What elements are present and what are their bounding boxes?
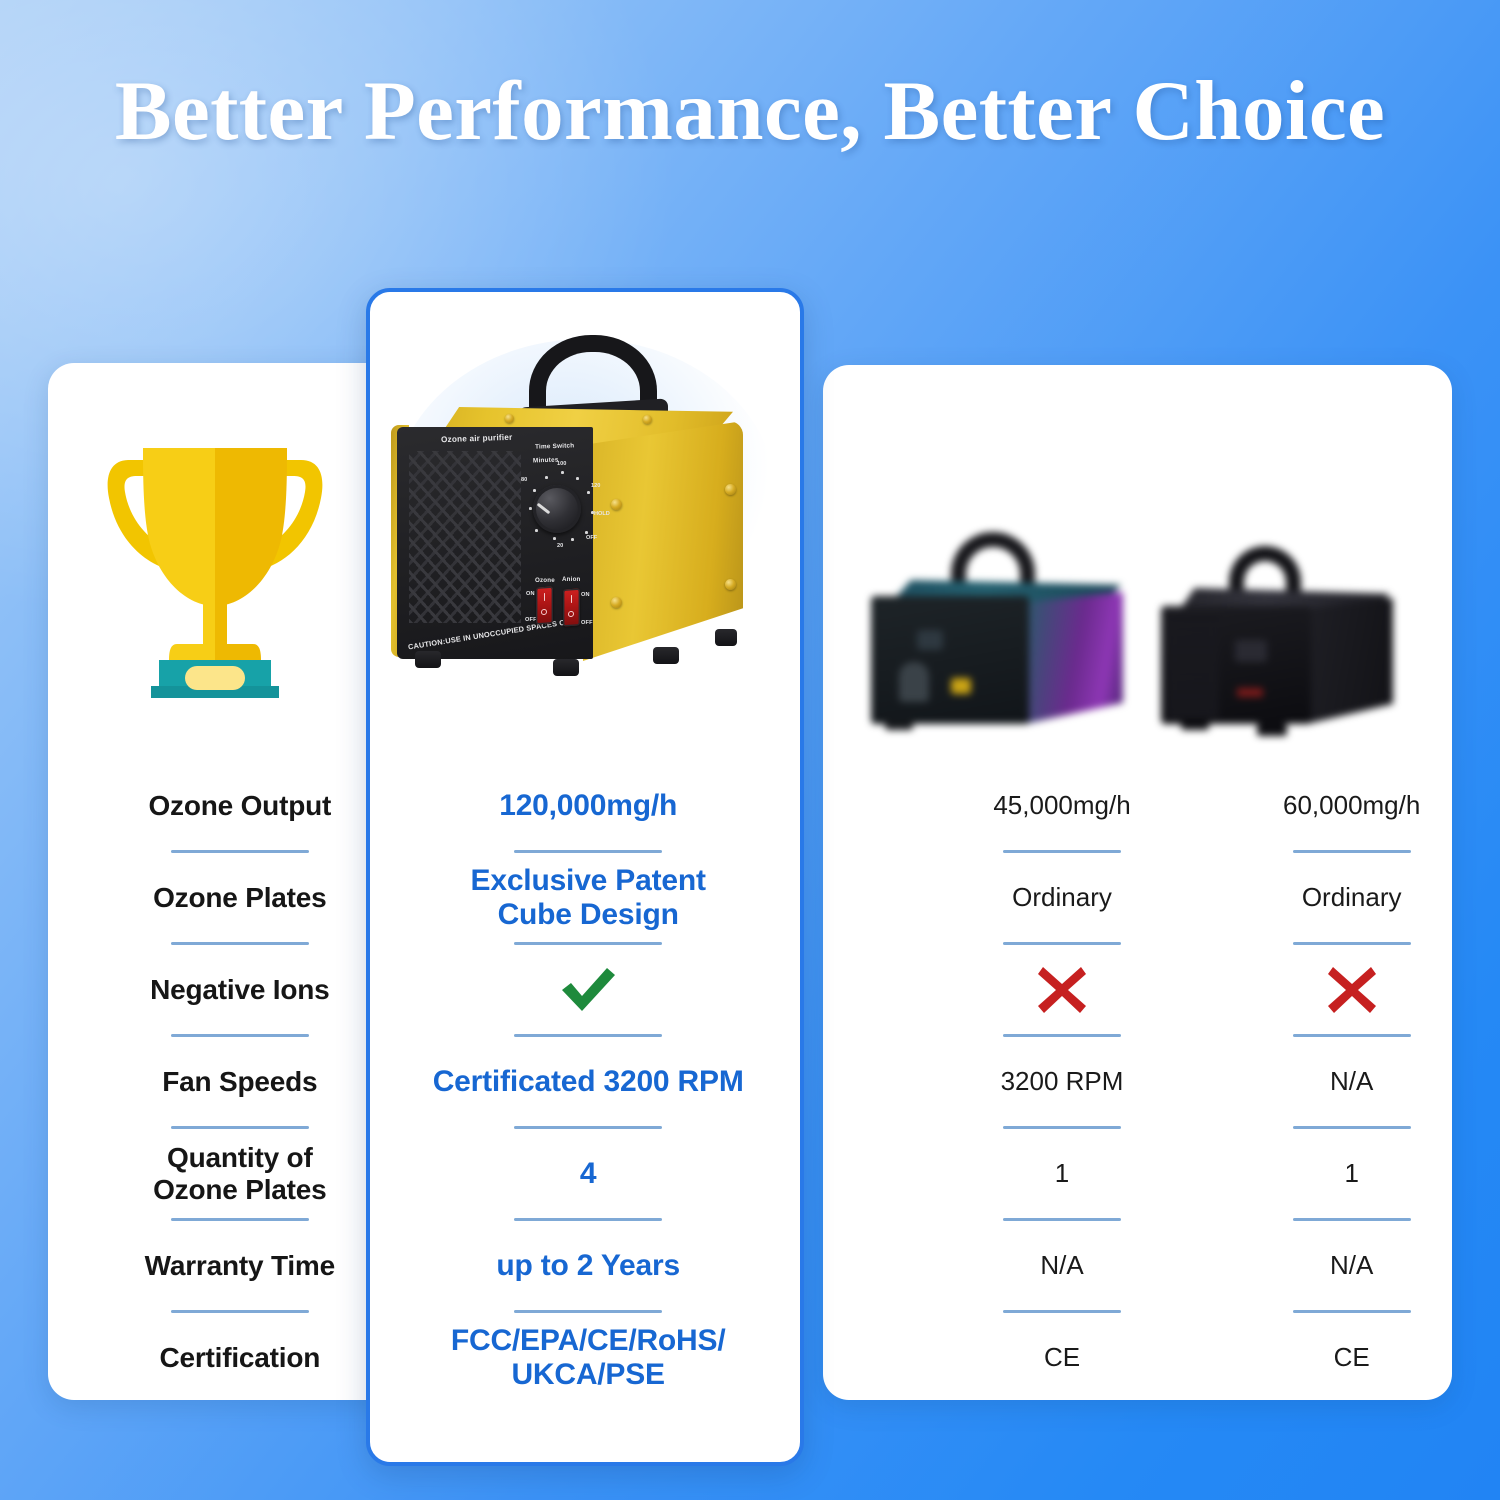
featured-value: up to 2 Years: [496, 1249, 680, 1283]
featured-value-cell: [372, 944, 805, 1036]
dial-tick: [553, 537, 556, 540]
competitor-1-value-cell: 1: [914, 1128, 1211, 1220]
row-label: Certification: [159, 1342, 320, 1374]
device-foot: [715, 629, 737, 646]
red-cross-icon: [1036, 965, 1088, 1015]
row-label: Ozone Plates: [153, 882, 326, 914]
anion-switch-label: Anion: [562, 576, 581, 583]
trophy-icon-container: [72, 398, 357, 730]
competitor-2-value-cell: [1203, 944, 1500, 1036]
competitor-foot: [885, 720, 913, 730]
featured-value-cell: 120,000mg/h: [372, 760, 805, 852]
device-screw: [643, 415, 652, 424]
competitor-2-image-container: [1140, 480, 1440, 742]
featured-value-cell: FCC/EPA/CE/RoHS/UKCA/PSE: [372, 1312, 805, 1404]
featured-value: 4: [580, 1157, 597, 1191]
row-label: Quantity ofOzone Plates: [153, 1142, 326, 1206]
ozone-on-label: ON: [526, 591, 535, 597]
featured-value: 120,000mg/h: [499, 789, 677, 823]
comparison-row: Fan SpeedsCertificated 3200 RPM3200 RPMN…: [0, 1036, 1500, 1128]
dial-number-120: 120: [591, 483, 600, 489]
dial-tick: [587, 491, 590, 494]
competitor-front-panel: [871, 596, 1029, 724]
competitor-side-panel: [1307, 598, 1393, 724]
competitor-2-value-cell: CE: [1203, 1312, 1500, 1404]
competitor-detail: [1237, 688, 1263, 697]
competitor-1-value-cell: 3200 RPM: [914, 1036, 1211, 1128]
competitor-1-image-container: [847, 480, 1147, 742]
competitor-detail: [917, 630, 943, 650]
dial-number-100: 100: [557, 461, 566, 467]
competitor-1-value-cell: [914, 944, 1211, 1036]
dial-number-20: 20: [557, 543, 563, 549]
dial-tick: [571, 538, 574, 541]
rival1-value: CE: [1044, 1343, 1080, 1373]
comparison-table: Ozone Output120,000mg/h45,000mg/h60,000m…: [0, 760, 1500, 1404]
dial-tick: [535, 529, 538, 532]
infographic-root: Better Performance, Better Choice: [0, 0, 1500, 1500]
competitor-1-product-image: [855, 526, 1139, 742]
rival2-value: 60,000mg/h: [1283, 791, 1420, 821]
device-foot: [653, 647, 679, 664]
ozone-rocker-switch[interactable]: [536, 586, 553, 624]
competitor-2-value-cell: N/A: [1203, 1220, 1500, 1312]
row-label: Warranty Time: [145, 1250, 335, 1282]
competitor-vent-grille: [1167, 616, 1219, 716]
rival1-value: N/A: [1040, 1251, 1083, 1281]
featured-value: FCC/EPA/CE/RoHS/UKCA/PSE: [451, 1324, 726, 1392]
rival2-value: Ordinary: [1302, 883, 1402, 913]
dial-tick: [529, 507, 532, 510]
dial-number-80: 80: [521, 477, 527, 483]
competitor-detail: [951, 678, 971, 694]
device-screw: [611, 499, 622, 510]
ozone-generator-image: Ozone air purifier Time Switch Minutes C…: [385, 329, 785, 689]
competitor-2-value-cell: N/A: [1203, 1036, 1500, 1128]
rocker-o-mark: [568, 611, 574, 617]
comparison-row: Warranty Timeup to 2 YearsN/AN/A: [0, 1220, 1500, 1312]
featured-product-image-container: Ozone air purifier Time Switch Minutes C…: [372, 306, 798, 712]
device-time-switch-label: Time Switch: [535, 442, 575, 450]
red-cross-icon: [1326, 965, 1378, 1015]
device-screw: [725, 579, 736, 590]
rival1-value: 1: [1055, 1159, 1069, 1189]
dial-number-off: OFF: [586, 535, 597, 541]
dial-tick: [533, 489, 536, 492]
competitor-foot: [1181, 718, 1209, 730]
rival2-value: 1: [1344, 1159, 1358, 1189]
featured-value-cell: 4: [372, 1128, 805, 1220]
competitor-2-value-cell: 60,000mg/h: [1203, 760, 1500, 852]
competitor-detail: [1235, 640, 1267, 662]
rival2-value: N/A: [1330, 1067, 1373, 1097]
comparison-row: Negative Ions: [0, 944, 1500, 1036]
competitor-foot: [1257, 724, 1287, 736]
competitor-1-value-cell: N/A: [914, 1220, 1211, 1312]
dial-tick: [561, 471, 564, 474]
competitor-2-value-cell: Ordinary: [1203, 852, 1500, 944]
anion-rocker-switch[interactable]: [563, 588, 580, 626]
featured-value: Exclusive PatentCube Design: [471, 864, 706, 932]
green-check-icon: [557, 966, 619, 1014]
comparison-row: CertificationFCC/EPA/CE/RoHS/UKCA/PSECEC…: [0, 1312, 1500, 1404]
anion-off-label: OFF: [581, 620, 593, 626]
device-minutes-label: Minutes: [533, 457, 559, 465]
device-vent-grille: [409, 451, 521, 623]
row-label: Negative Ions: [150, 974, 329, 1006]
row-label: Fan Speeds: [162, 1066, 317, 1098]
rival2-value: N/A: [1330, 1251, 1373, 1281]
rocker-i-mark: [544, 593, 546, 601]
timer-dial-knob[interactable]: [533, 485, 581, 533]
competitor-1-value-cell: 45,000mg/h: [914, 760, 1211, 852]
featured-value-cell: Certificated 3200 RPM: [372, 1036, 805, 1128]
competitor-2-product-image: [1161, 520, 1419, 742]
row-label: Ozone Output: [148, 790, 331, 822]
rocker-o-mark: [541, 609, 547, 615]
device-screw: [611, 597, 622, 608]
comparison-row: Ozone PlatesExclusive PatentCube DesignO…: [0, 852, 1500, 944]
competitor-1-value-cell: Ordinary: [914, 852, 1211, 944]
featured-value-cell: Exclusive PatentCube Design: [372, 852, 805, 944]
ozone-switch-label: Ozone: [535, 577, 555, 584]
competitor-2-value-cell: 1: [1203, 1128, 1500, 1220]
comparison-row: Ozone Output120,000mg/h45,000mg/h60,000m…: [0, 760, 1500, 852]
page-title: Better Performance, Better Choice: [0, 62, 1500, 160]
anion-on-label: ON: [581, 592, 590, 598]
featured-value-cell: up to 2 Years: [372, 1220, 805, 1312]
device-screw: [505, 414, 514, 423]
device-foot: [415, 651, 441, 668]
competitor-1-value-cell: CE: [914, 1312, 1211, 1404]
rival1-value: 45,000mg/h: [993, 791, 1130, 821]
dial-number-hold: HOLD: [594, 511, 610, 517]
dial-tick: [585, 531, 588, 534]
rival1-value: Ordinary: [1012, 883, 1112, 913]
competitor-detail: [899, 662, 929, 702]
trophy-icon: [99, 430, 331, 698]
competitor-side-panel: [1025, 592, 1123, 724]
dial-tick: [545, 476, 548, 479]
dial-tick: [576, 477, 579, 480]
rocker-i-mark: [571, 595, 573, 603]
featured-value: Certificated 3200 RPM: [433, 1065, 744, 1099]
rival1-value: 3200 RPM: [1001, 1067, 1124, 1097]
device-foot: [553, 659, 579, 676]
comparison-row: Quantity ofOzone Plates411: [0, 1128, 1500, 1220]
rival2-value: CE: [1334, 1343, 1370, 1373]
device-screw: [725, 484, 736, 495]
device-side-panel: [583, 421, 743, 661]
